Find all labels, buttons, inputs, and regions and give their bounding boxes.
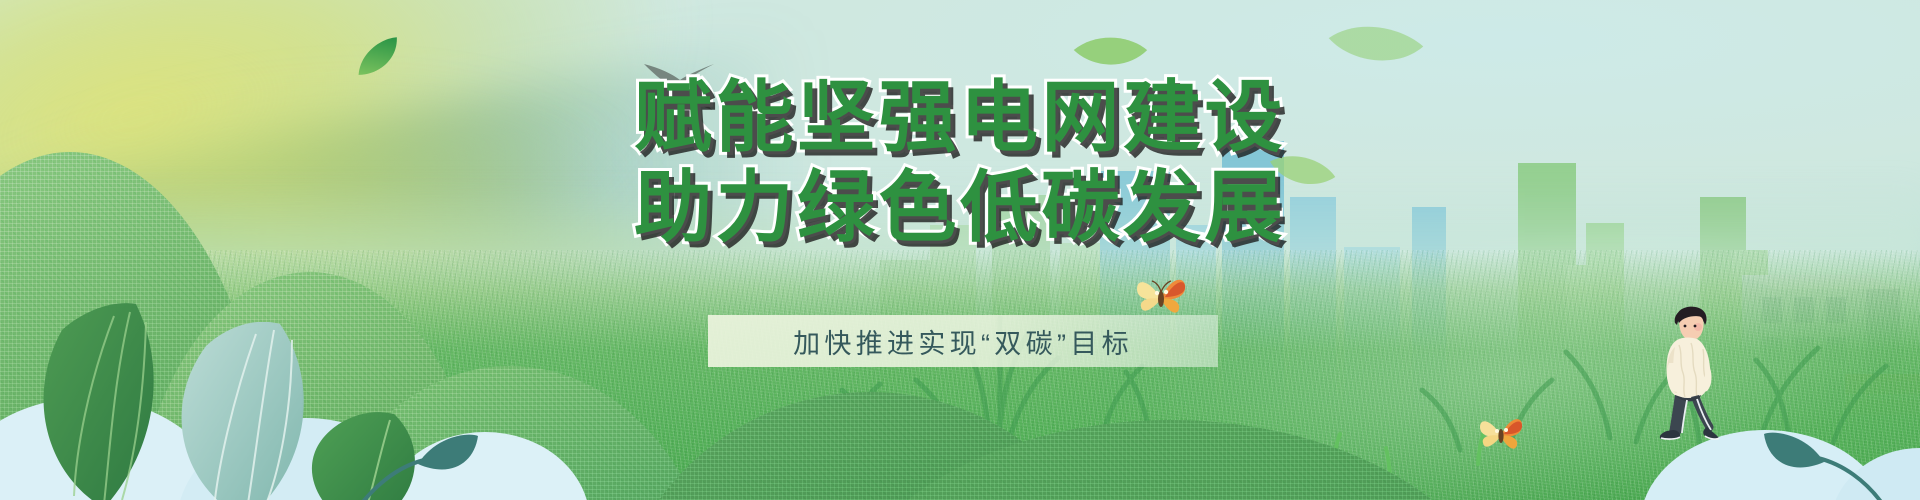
butterfly-icon-upper <box>1135 275 1187 319</box>
headline-line-2: 助力绿色低碳发展 <box>0 168 1920 246</box>
leaf-sprig-right <box>1760 418 1890 500</box>
eco-grid-banner: 赋能坚强电网建设 助力绿色低碳发展 加快推进实现“双碳”目标 <box>0 0 1920 500</box>
butterfly-icon-lower <box>1478 415 1524 455</box>
walking-person-icon <box>1655 305 1725 440</box>
headline-line-1: 赋能坚强电网建设 <box>0 78 1920 156</box>
subtitle-text: 加快推进实现“双碳”目标 <box>708 315 1218 367</box>
leaf-sprig-teal <box>352 420 482 500</box>
